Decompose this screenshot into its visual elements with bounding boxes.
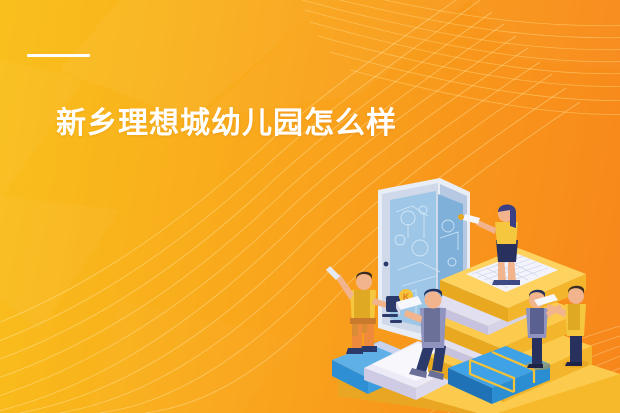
- promo-banner: 新乡理想城幼儿园怎么样: [0, 0, 620, 413]
- title-rule-divider: [27, 54, 90, 57]
- page-title: 新乡理想城幼儿园怎么样: [56, 104, 397, 144]
- isometric-books-illustration: K: [320, 178, 620, 413]
- headline-block: 新乡理想城幼儿园怎么样: [0, 0, 440, 200]
